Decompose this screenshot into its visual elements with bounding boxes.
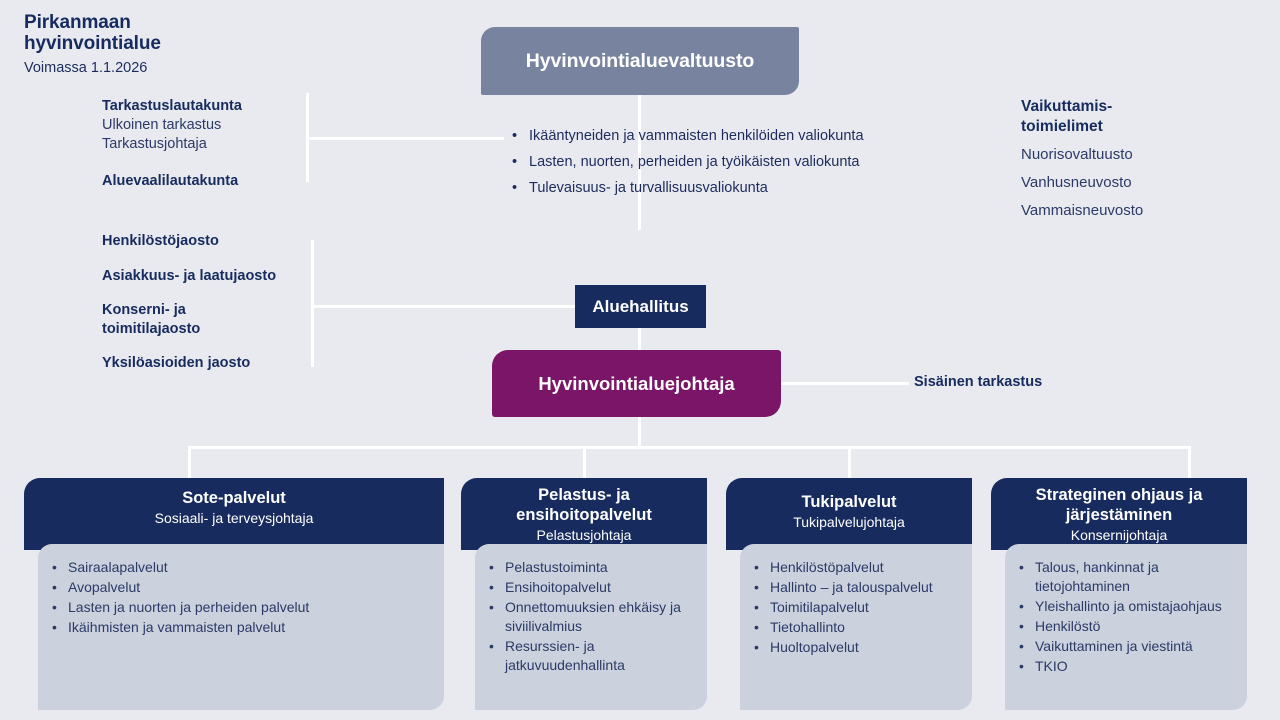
- connector-divisions-horizontal: [311, 305, 579, 308]
- list-item[interactable]: • Lasten ja nuorten ja perheiden palvelu…: [52, 598, 434, 617]
- influence-bodies-title-1: Vaikuttamis-: [1021, 97, 1143, 117]
- bullet-icon: •: [512, 178, 529, 199]
- bullet-icon: •: [1019, 597, 1035, 616]
- committee-list: • Ikääntyneiden ja vammaisten henkilöide…: [512, 126, 872, 204]
- service-item-label: TKIO: [1035, 657, 1237, 676]
- service-item-label: Avopalvelut: [68, 578, 434, 597]
- service-item-label: Onnettomuuksien ehkäisy ja siviilivalmiu…: [505, 598, 697, 636]
- org-chart-canvas: Pirkanmaan hyvinvointialue Voimassa 1.1.…: [0, 0, 1280, 720]
- bullet-icon: •: [52, 618, 68, 637]
- audit-committee-title: Tarkastuslautakunta: [102, 97, 242, 116]
- list-item[interactable]: • Hallinto – ja talouspalvelut: [754, 578, 962, 597]
- division-item-2[interactable]: Asiakkuus- ja laatujaosto: [102, 267, 276, 286]
- bullet-icon: •: [52, 558, 68, 577]
- list-item[interactable]: • Yleishallinto ja omistajaohjaus: [1019, 597, 1237, 616]
- audit-committee-sub-1: Ulkoinen tarkastus: [102, 116, 242, 136]
- committee-label: Tulevaisuus- ja turvallisuusvaliokunta: [529, 178, 872, 199]
- council-box[interactable]: Hyvinvointialuevaltuusto: [481, 27, 799, 95]
- director-box[interactable]: Hyvinvointialuejohtaja: [492, 350, 781, 417]
- bullet-icon: •: [754, 598, 770, 617]
- bullet-icon: •: [754, 578, 770, 597]
- connector-drop-service-1: [188, 446, 191, 481]
- connector-board-to-director: [638, 328, 641, 352]
- bullet-icon: •: [489, 637, 505, 675]
- audit-committee-group: Tarkastuslautakunta Ulkoinen tarkastus T…: [102, 97, 242, 190]
- list-item[interactable]: • Sairaalapalvelut: [52, 558, 434, 577]
- list-item[interactable]: • Resurssien- ja jatkuvuudenhallinta: [489, 637, 697, 675]
- influence-body-item-1[interactable]: Nuorisovaltuusto: [1021, 141, 1143, 169]
- division-item-3[interactable]: Konserni- ja toimitilajaosto: [102, 301, 242, 338]
- bullet-icon: •: [1019, 617, 1035, 636]
- service-item-label: Yleishallinto ja omistajaohjaus: [1035, 597, 1237, 616]
- service-box-tuki: Tukipalvelut Tukipalvelujohtaja • Henkil…: [726, 478, 972, 710]
- board-title: Aluehallitus: [592, 297, 688, 317]
- service-box-pelastus: Pelastus- ja ensihoitopalvelut Pelastusj…: [461, 478, 707, 710]
- connector-divisions-bracket: [311, 240, 314, 367]
- service-item-label: Henkilöstöpalvelut: [770, 558, 962, 577]
- service-title: Sote-palvelut: [34, 488, 434, 508]
- service-body: • Pelastustoiminta • Ensihoitopalvelut •…: [475, 544, 707, 710]
- election-committee-title: Aluevaalilautakunta: [102, 172, 242, 191]
- service-header[interactable]: Pelastus- ja ensihoitopalvelut Pelastusj…: [461, 478, 707, 550]
- bullet-icon: •: [754, 638, 770, 657]
- board-box[interactable]: Aluehallitus: [575, 285, 706, 328]
- bullet-icon: •: [1019, 637, 1035, 656]
- list-item[interactable]: • Ikääntyneiden ja vammaisten henkilöide…: [512, 126, 872, 147]
- bullet-icon: •: [52, 598, 68, 617]
- influence-body-item-2[interactable]: Vanhusneuvosto: [1021, 169, 1143, 197]
- service-box-strateginen: Strateginen ohjaus ja järjestäminen Kons…: [991, 478, 1247, 710]
- bullet-icon: •: [489, 558, 505, 577]
- service-header[interactable]: Tukipalvelut Tukipalvelujohtaja: [726, 478, 972, 550]
- service-title: Pelastus- ja ensihoitopalvelut: [471, 485, 697, 525]
- list-item[interactable]: • Pelastustoiminta: [489, 558, 697, 577]
- service-item-label: Tietohallinto: [770, 618, 962, 637]
- connector-drop-service-2: [583, 446, 586, 481]
- bullet-icon: •: [489, 598, 505, 636]
- list-item[interactable]: • Toimitilapalvelut: [754, 598, 962, 617]
- division-item-4[interactable]: Yksilöasioiden jaosto: [102, 354, 276, 373]
- validity-date: Voimassa 1.1.2026: [24, 59, 324, 77]
- service-item-label: Toimitilapalvelut: [770, 598, 962, 617]
- influence-bodies-title-2: toimielimet: [1021, 117, 1143, 137]
- service-title: Tukipalvelut: [736, 492, 962, 512]
- connector-director-drop: [638, 417, 641, 449]
- list-item[interactable]: • Tulevaisuus- ja turvallisuusvaliokunta: [512, 178, 872, 199]
- brand-header: Pirkanmaan hyvinvointialue Voimassa 1.1.…: [24, 12, 324, 77]
- bullet-icon: •: [512, 152, 529, 173]
- list-item[interactable]: • Tietohallinto: [754, 618, 962, 637]
- service-item-label: Pelastustoiminta: [505, 558, 697, 577]
- bullet-icon: •: [754, 618, 770, 637]
- list-item[interactable]: • Ikäihmisten ja vammaisten palvelut: [52, 618, 434, 637]
- service-item-label: Henkilöstö: [1035, 617, 1237, 636]
- service-item-label: Huoltopalvelut: [770, 638, 962, 657]
- committee-label: Ikääntyneiden ja vammaisten henkilöiden …: [529, 126, 872, 147]
- service-role: Sosiaali- ja terveysjohtaja: [34, 509, 434, 528]
- influence-bodies-group: Vaikuttamis- toimielimet Nuorisovaltuust…: [1021, 97, 1143, 225]
- bullet-icon: •: [1019, 657, 1035, 676]
- connector-drop-service-3: [848, 446, 851, 481]
- service-item-label: Talous, hankinnat ja tietojohtaminen: [1035, 558, 1237, 596]
- service-body: • Henkilöstöpalvelut • Hallinto – ja tal…: [740, 544, 972, 710]
- service-item-label: Hallinto – ja talouspalvelut: [770, 578, 962, 597]
- service-item-label: Ikäihmisten ja vammaisten palvelut: [68, 618, 434, 637]
- service-item-label: Resurssien- ja jatkuvuudenhallinta: [505, 637, 697, 675]
- list-item[interactable]: • TKIO: [1019, 657, 1237, 676]
- service-body: • Talous, hankinnat ja tietojohtaminen •…: [1005, 544, 1247, 710]
- service-header[interactable]: Strateginen ohjaus ja järjestäminen Kons…: [991, 478, 1247, 550]
- bullet-icon: •: [512, 126, 529, 147]
- bullet-icon: •: [1019, 558, 1035, 596]
- service-title: Strateginen ohjaus ja järjestäminen: [1001, 485, 1237, 525]
- list-item[interactable]: • Vaikuttaminen ja viestintä: [1019, 637, 1237, 656]
- service-item-label: Lasten ja nuorten ja perheiden palvelut: [68, 598, 434, 617]
- list-item[interactable]: • Huoltopalvelut: [754, 638, 962, 657]
- council-title: Hyvinvointialuevaltuusto: [526, 50, 754, 73]
- list-item[interactable]: • Henkilöstö: [1019, 617, 1237, 636]
- director-title: Hyvinvointialuejohtaja: [538, 373, 734, 395]
- service-box-sote: Sote-palvelut Sosiaali- ja terveysjohtaj…: [24, 478, 444, 710]
- service-role: Tukipalvelujohtaja: [736, 513, 962, 532]
- brand-line-2: hyvinvointialue: [24, 33, 324, 54]
- connector-internal-audit: [781, 382, 909, 385]
- list-item[interactable]: • Ensihoitopalvelut: [489, 578, 697, 597]
- service-role: Konsernijohtaja: [1001, 526, 1237, 545]
- bullet-icon: •: [52, 578, 68, 597]
- divisions-group: Henkilöstöjaosto Asiakkuus- ja laatujaos…: [102, 232, 276, 373]
- service-header[interactable]: Sote-palvelut Sosiaali- ja terveysjohtaj…: [24, 478, 444, 550]
- brand-line-1: Pirkanmaan: [24, 12, 324, 33]
- service-role: Pelastusjohtaja: [471, 526, 697, 545]
- division-item-1[interactable]: Henkilöstöjaosto: [102, 232, 276, 251]
- connector-drop-service-4: [1188, 446, 1191, 481]
- bullet-icon: •: [754, 558, 770, 577]
- service-item-label: Ensihoitopalvelut: [505, 578, 697, 597]
- service-item-label: Vaikuttaminen ja viestintä: [1035, 637, 1237, 656]
- list-item[interactable]: • Onnettomuuksien ehkäisy ja siviilivalm…: [489, 598, 697, 636]
- list-item[interactable]: • Avopalvelut: [52, 578, 434, 597]
- bullet-icon: •: [489, 578, 505, 597]
- list-item[interactable]: • Henkilöstöpalvelut: [754, 558, 962, 577]
- connector-service-bus: [188, 446, 1191, 449]
- committee-label: Lasten, nuorten, perheiden ja työikäiste…: [529, 152, 872, 173]
- list-item[interactable]: • Talous, hankinnat ja tietojohtaminen: [1019, 558, 1237, 596]
- audit-committee-sub-2: Tarkastusjohtaja: [102, 135, 242, 155]
- list-item[interactable]: • Lasten, nuorten, perheiden ja työikäis…: [512, 152, 872, 173]
- influence-body-item-3[interactable]: Vammaisneuvosto: [1021, 197, 1143, 225]
- service-item-label: Sairaalapalvelut: [68, 558, 434, 577]
- service-body: • Sairaalapalvelut • Avopalvelut • Laste…: [38, 544, 444, 710]
- connector-audit-horizontal: [306, 137, 504, 140]
- internal-audit-label: Sisäinen tarkastus: [914, 374, 1042, 390]
